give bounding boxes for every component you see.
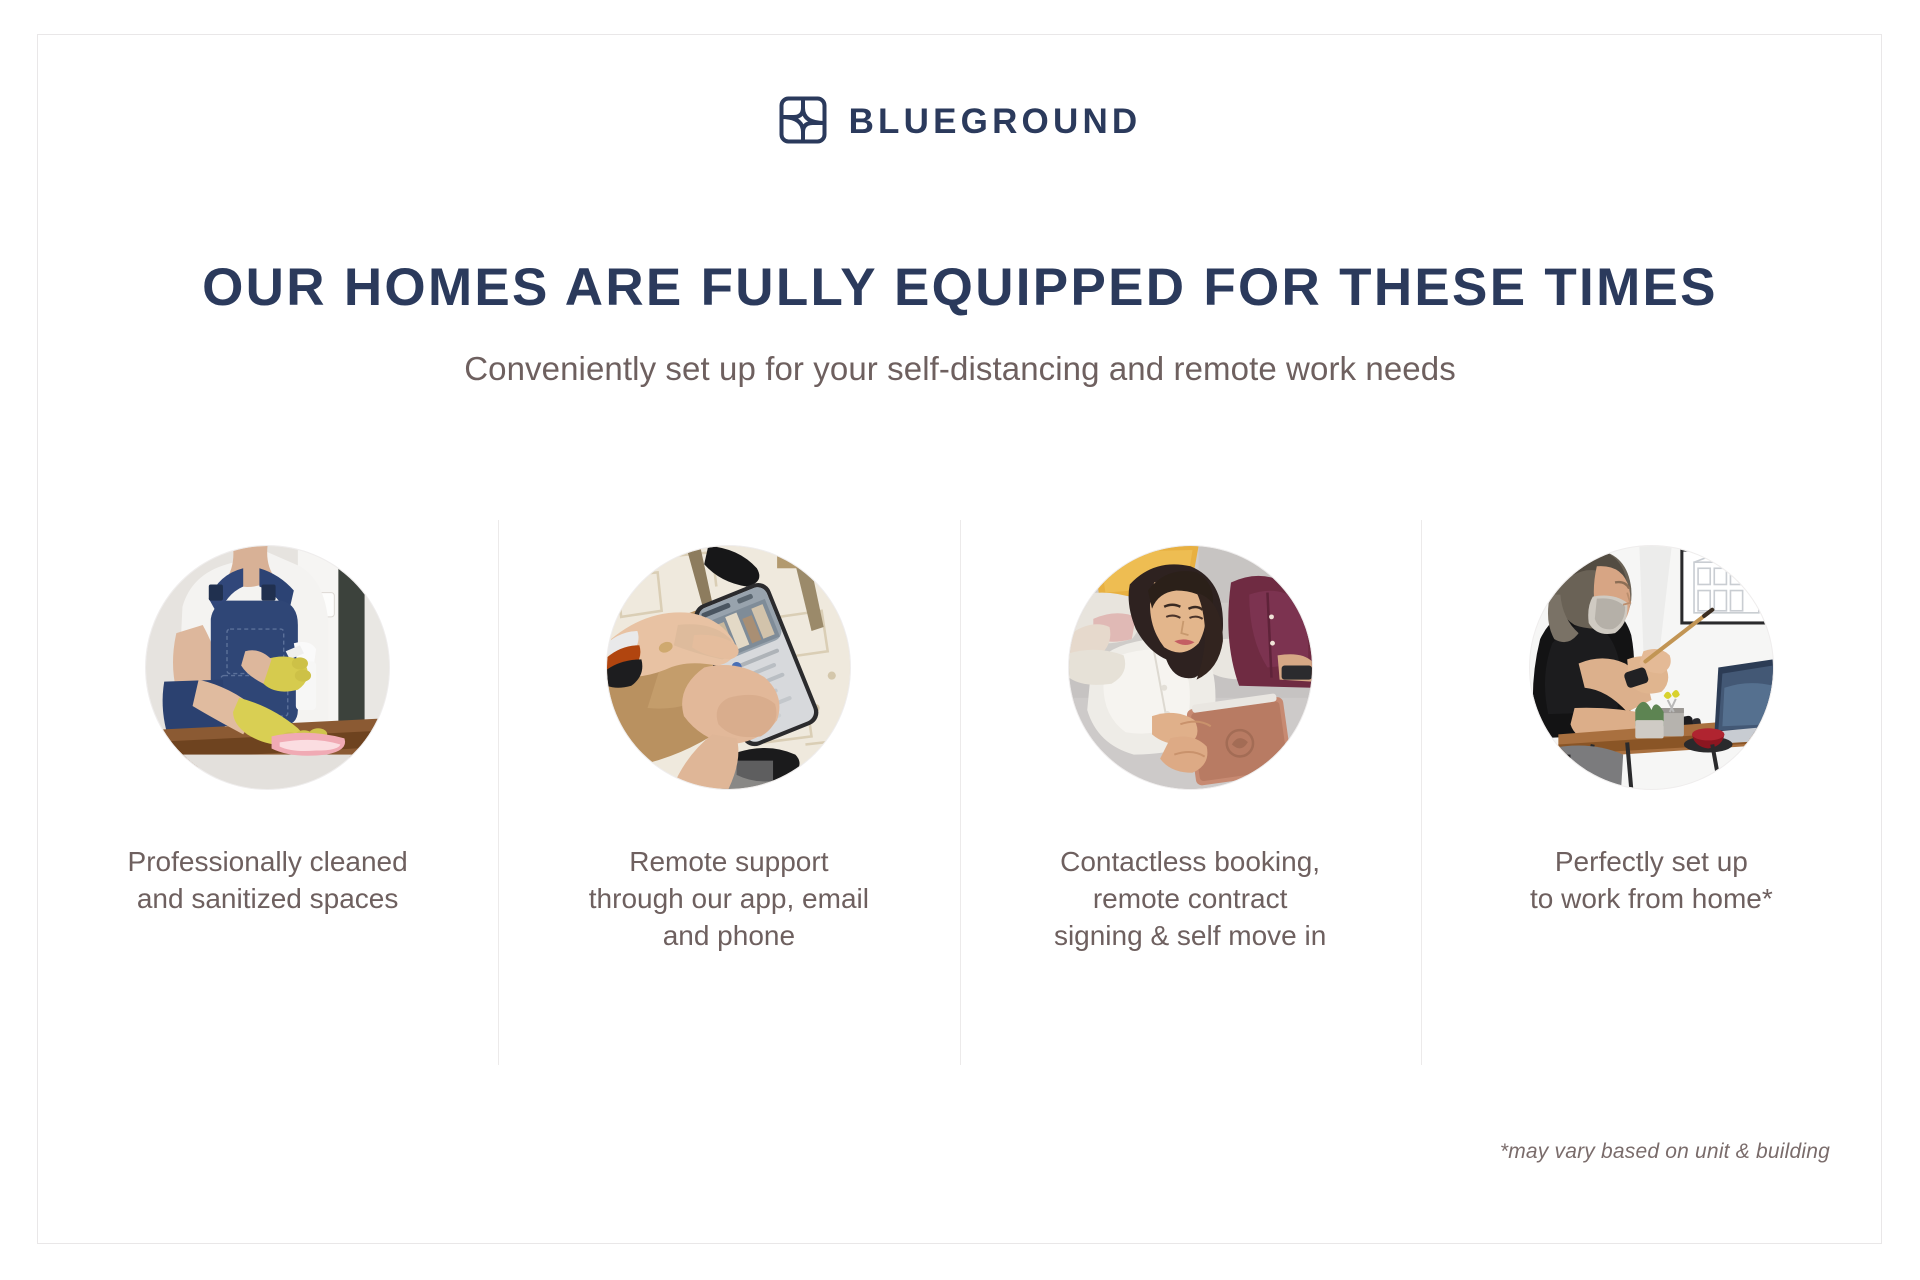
footnote-disclaimer: *may vary based on unit & building (1500, 1140, 1830, 1164)
page-headline: OUR HOMES ARE FULLY EQUIPPED FOR THESE T… (0, 257, 1920, 318)
page-subtitle: Conveniently set up for your self-distan… (0, 350, 1920, 388)
infographic-page: BLUEGROUND OUR HOMES ARE FULLY EQUIPPED … (0, 0, 1920, 1280)
brand-logo: BLUEGROUND (0, 96, 1920, 144)
feature-caption: Professionally cleaned and sanitized spa… (128, 844, 408, 918)
feature-item-remote-support: Remote support through our app, email an… (498, 520, 959, 1065)
feature-item-cleaning: Professionally cleaned and sanitized spa… (37, 520, 498, 1065)
feature-caption: Contactless booking, remote contract sig… (1054, 844, 1326, 955)
photo-tablet-contactless-booking (1069, 546, 1312, 789)
photo-work-from-home-desk (1530, 546, 1773, 789)
feature-item-contactless-booking: Contactless booking, remote contract sig… (960, 520, 1421, 1065)
feature-list: Professionally cleaned and sanitized spa… (37, 520, 1882, 1065)
feature-caption: Perfectly set up to work from home* (1530, 844, 1773, 918)
feature-item-work-from-home: Perfectly set up to work from home* (1421, 520, 1882, 1065)
brand-wordmark: BLUEGROUND (849, 102, 1142, 139)
feature-caption: Remote support through our app, email an… (589, 844, 869, 955)
photo-professional-cleaning (146, 546, 389, 789)
blueground-square-logo-icon (779, 96, 827, 144)
photo-phone-app-support (607, 546, 850, 789)
